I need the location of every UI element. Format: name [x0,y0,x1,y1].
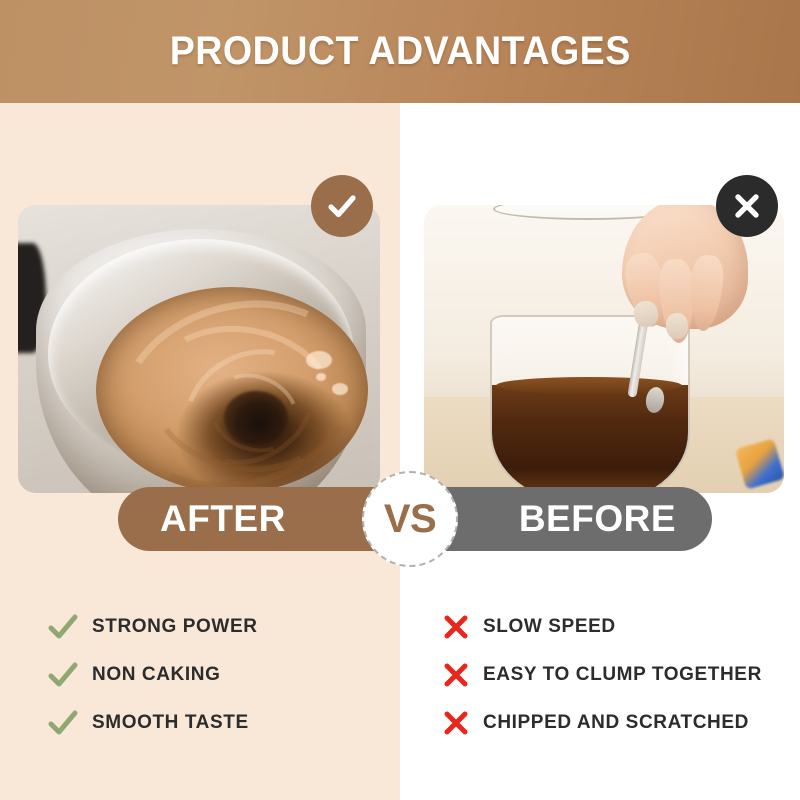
cup-rim [48,239,354,469]
check-icon [48,709,82,737]
check-icon [325,189,359,223]
list-item: STRONG POWER [48,604,388,650]
list-item-label: STRONG POWER [92,616,258,638]
list-item-label: NON CAKING [92,664,220,686]
photo-after-blender-cup [18,205,380,493]
close-icon [443,710,477,736]
list-item: SMOOTH TASTE [48,700,388,746]
list-item: EASY TO CLUMP TOGETHER [443,652,793,698]
feature-list-negative: SLOW SPEED EASY TO CLUMP TOGETHER CHIPPE… [443,604,793,748]
list-item-label: CHIPPED AND SCRATCHED [483,712,749,734]
page-title: PRODUCT ADVANTAGES [169,29,630,74]
close-icon [443,614,477,640]
product-advantages-infographic: PRODUCT ADVANTAGES [0,0,800,800]
list-item-label: SLOW SPEED [483,616,616,638]
badge-cross [716,175,778,237]
shake-droplet [316,373,326,381]
close-icon [443,662,477,688]
cup-interior-shake [96,287,368,493]
header-banner: PRODUCT ADVANTAGES [0,0,800,103]
photo-before-stirring-glass [424,205,784,493]
list-item: CHIPPED AND SCRATCHED [443,700,793,746]
shake-vortex [224,391,288,445]
badge-check [311,175,373,237]
check-icon [48,613,82,641]
fingernail [665,312,688,339]
list-item: NON CAKING [48,652,388,698]
close-icon [731,190,763,222]
feature-list-positive: STRONG POWER NON CAKING SMOOTH TASTE [48,604,388,748]
list-item: SLOW SPEED [443,604,793,650]
check-icon [48,661,82,689]
shake-droplet [306,351,332,369]
shake-droplet [332,383,348,395]
list-item-label: EASY TO CLUMP TOGETHER [483,664,762,686]
list-item-label: SMOOTH TASTE [92,712,249,734]
